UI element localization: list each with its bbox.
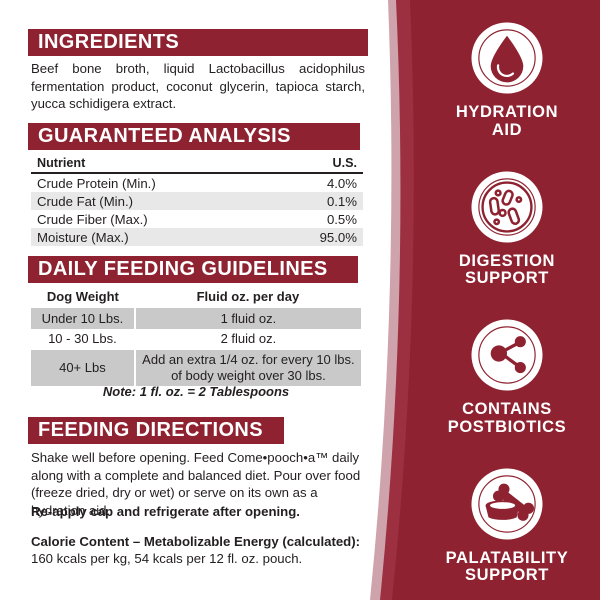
table-header-row: Dog Weight Fluid oz. per day — [31, 287, 361, 308]
benefits-list: HYDRATION AID — [414, 0, 600, 600]
weight-range: 10 - 30 Lbs. — [31, 329, 135, 350]
table-row: Crude Protein (Min.) 4.0% — [31, 173, 363, 192]
benefits-side-panel: HYDRATION AID — [370, 0, 600, 600]
feeding-guidelines-note: Note: 1 fl. oz. = 2 Tablespoons — [31, 384, 361, 399]
pet-food-label: INGREDIENTS Beef bone broth, liquid Lact… — [0, 0, 600, 600]
nutrient-name: Crude Protein (Min.) — [31, 173, 272, 192]
molecule-network-icon — [470, 318, 544, 392]
water-drop-icon — [470, 21, 544, 95]
table-row: 10 - 30 Lbs. 2 fluid oz. — [31, 329, 361, 350]
benefit-label: DIGESTION SUPPORT — [459, 253, 555, 288]
dog-bowl-bone-icon — [470, 467, 544, 541]
feeding-amount: 1 fluid oz. — [135, 308, 361, 329]
nutrient-value: 4.0% — [272, 173, 363, 192]
benefit-item-contains-postbiotics: CONTAINS POSTBIOTICS — [414, 318, 600, 436]
guaranteed-analysis-heading-bar: GUARANTEED ANALYSIS — [28, 123, 360, 150]
feeding-directions-bold-line: Re-apply cap and refrigerate after openi… — [31, 503, 367, 521]
ingredients-body: Beef bone broth, liquid Lactobacillus ac… — [31, 60, 365, 113]
column-header-dog-weight: Dog Weight — [31, 287, 135, 308]
column-header-nutrient: Nutrient — [31, 155, 272, 173]
nutrient-name: Crude Fiber (Max.) — [31, 210, 272, 228]
benefit-item-digestion-support: DIGESTION SUPPORT — [414, 170, 600, 288]
benefit-item-palatability-support: PALATABILITY SUPPORT — [414, 467, 600, 585]
feeding-guidelines-heading: DAILY FEEDING GUIDELINES — [38, 258, 328, 281]
nutrient-name: Crude Fat (Min.) — [31, 192, 272, 210]
label-content-column: INGREDIENTS Beef bone broth, liquid Lact… — [0, 0, 400, 600]
column-header-us: U.S. — [272, 155, 363, 173]
guaranteed-analysis-table: Nutrient U.S. Crude Protein (Min.) 4.0% … — [31, 155, 363, 246]
ingredients-heading: INGREDIENTS — [38, 31, 179, 54]
nutrient-value: 0.5% — [272, 210, 363, 228]
table-row: Under 10 Lbs. 1 fluid oz. — [31, 308, 361, 329]
table-row: Moisture (Max.) 95.0% — [31, 228, 363, 246]
weight-range: Under 10 Lbs. — [31, 308, 135, 329]
petri-dish-bacteria-icon — [470, 170, 544, 244]
guaranteed-analysis-heading: GUARANTEED ANALYSIS — [38, 125, 291, 148]
benefit-label: HYDRATION AID — [456, 104, 558, 139]
ingredients-heading-bar: INGREDIENTS — [28, 29, 368, 56]
table-row: Crude Fat (Min.) 0.1% — [31, 192, 363, 210]
column-header-fluid-oz: Fluid oz. per day — [135, 287, 361, 308]
benefit-item-hydration-aid: HYDRATION AID — [414, 21, 600, 139]
calorie-content-body: 160 kcals per kg, 54 kcals per 12 fl. oz… — [31, 550, 367, 568]
nutrient-value: 0.1% — [272, 192, 363, 210]
feeding-guidelines-heading-bar: DAILY FEEDING GUIDELINES — [28, 256, 358, 283]
feeding-guidelines-table: Dog Weight Fluid oz. per day Under 10 Lb… — [31, 287, 361, 386]
feeding-amount: Add an extra 1/4 oz. for every 10 lbs. o… — [135, 350, 361, 387]
benefit-label: CONTAINS POSTBIOTICS — [448, 401, 566, 436]
table-header-row: Nutrient U.S. — [31, 155, 363, 173]
nutrient-name: Moisture (Max.) — [31, 228, 272, 246]
table-row: Crude Fiber (Max.) 0.5% — [31, 210, 363, 228]
table-row: 40+ Lbs Add an extra 1/4 oz. for every 1… — [31, 350, 361, 387]
feeding-directions-heading-bar: FEEDING DIRECTIONS — [28, 417, 284, 444]
weight-range: 40+ Lbs — [31, 350, 135, 387]
benefit-label: PALATABILITY SUPPORT — [446, 550, 569, 585]
nutrient-value: 95.0% — [272, 228, 363, 246]
feeding-directions-heading: FEEDING DIRECTIONS — [38, 419, 263, 442]
feeding-amount: 2 fluid oz. — [135, 329, 361, 350]
calorie-content-heading: Calorie Content – Metabolizable Energy (… — [31, 533, 367, 551]
